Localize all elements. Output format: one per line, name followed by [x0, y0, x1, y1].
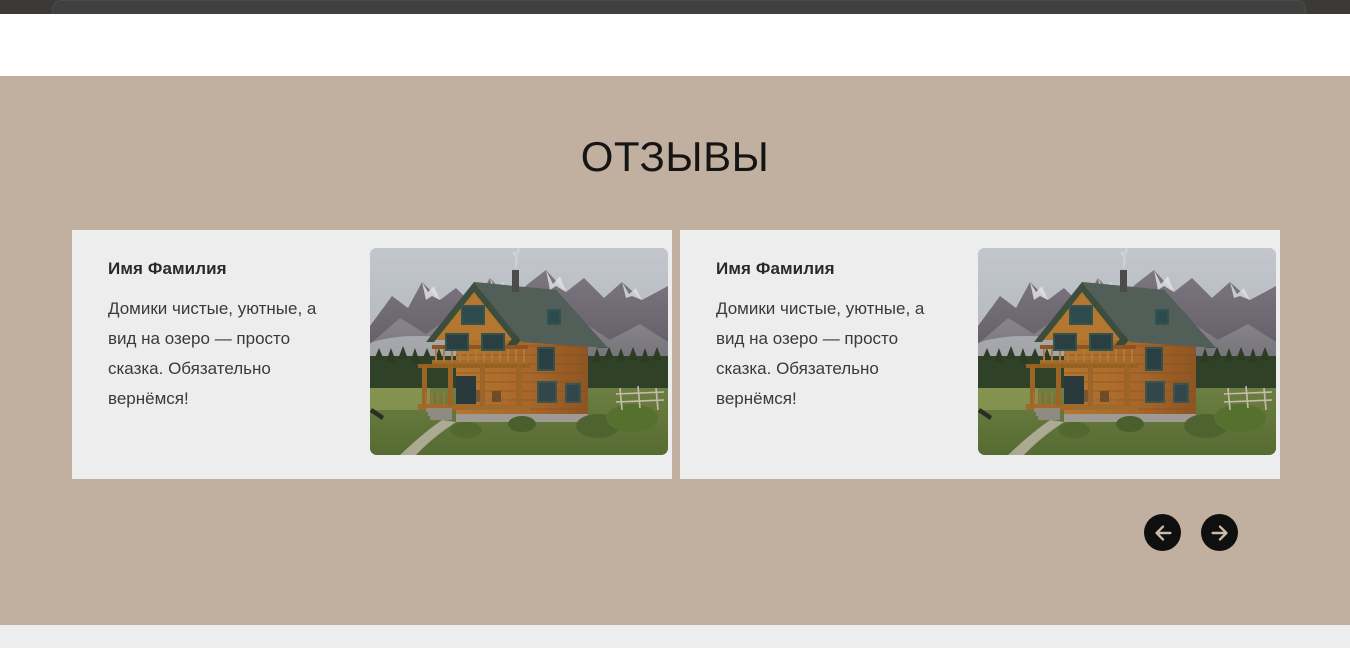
arrow-right-icon [1209, 522, 1231, 544]
review-card[interactable]: Имя Фамилия Домики чистые, уютные, а вид… [680, 230, 1280, 479]
carousel-next-button[interactable] [1201, 514, 1238, 551]
review-body-text: Домики чистые, уютные, а вид на озеро — … [716, 294, 948, 414]
cabin-photo [370, 248, 668, 455]
arrow-left-icon [1152, 522, 1174, 544]
reviews-carousel-track: Имя Фамилия Домики чистые, уютные, а вид… [72, 230, 1280, 479]
review-card-media [370, 230, 672, 479]
review-body-text: Домики чистые, уютные, а вид на озеро — … [108, 294, 340, 414]
review-card-media [978, 230, 1280, 479]
reviewer-name: Имя Фамилия [716, 258, 960, 280]
review-card-text: Имя Фамилия Домики чистые, уютные, а вид… [72, 230, 370, 414]
carousel-prev-button[interactable] [1144, 514, 1181, 551]
reviewer-name: Имя Фамилия [108, 258, 352, 280]
cabin-photo [978, 248, 1276, 455]
carousel-navigation [1144, 514, 1238, 551]
browser-viewport-top-whitespace [0, 14, 1350, 76]
review-card-text: Имя Фамилия Домики чистые, уютные, а вид… [680, 230, 978, 414]
reviews-section: ОТЗЫВЫ Имя Фамилия Домики чистые, уютные… [0, 76, 1350, 625]
review-card[interactable]: Имя Фамилия Домики чистые, уютные, а вид… [72, 230, 672, 479]
browser-active-tab[interactable] [52, 0, 1306, 14]
page-root: ОТЗЫВЫ Имя Фамилия Домики чистые, уютные… [0, 0, 1350, 648]
page-title: ОТЗЫВЫ [0, 134, 1350, 180]
footer-strip [0, 625, 1350, 648]
browser-tab-bar [0, 0, 1350, 14]
